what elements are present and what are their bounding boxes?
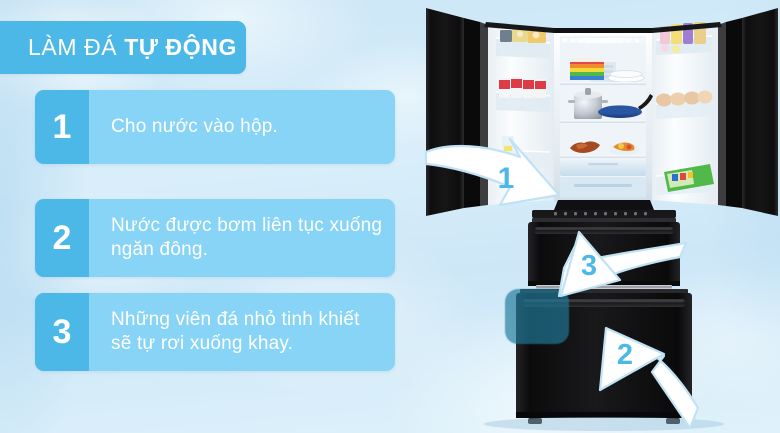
callout-2-label: 2 <box>617 339 633 371</box>
title-banner: LÀM ĐÁ TỰ ĐỘNG <box>0 21 246 74</box>
right-door <box>652 8 778 216</box>
step-3-text: Những viên đá nhỏ tinh khiết sẽ tự rơi x… <box>111 308 385 355</box>
step-2-text: Nước được bơm liên tục xuống ngăn đông. <box>111 214 385 261</box>
step-3-body: Những viên đá nhỏ tinh khiết sẽ tự rơi x… <box>89 293 395 371</box>
callout-3-label: 3 <box>581 250 597 282</box>
step-item-3: 3 Những viên đá nhỏ tinh khiết sẽ tự rơi… <box>35 293 395 371</box>
title-bold-part: TỰ ĐỘNG <box>124 34 237 60</box>
step-1-body: Cho nước vào hộp. <box>89 90 395 164</box>
page-title: LÀM ĐÁ TỰ ĐỘNG <box>28 34 237 61</box>
callout-arrow-2: 2 <box>598 316 748 433</box>
callout-arrow-1: 1 <box>424 133 564 225</box>
callout-1-label: 1 <box>498 162 515 195</box>
step-2-body: Nước được bơm liên tục xuống ngăn đông. <box>89 199 395 277</box>
step-3-number: 3 <box>35 293 89 371</box>
fridge-interior <box>554 30 653 202</box>
step-1-text: Cho nước vào hộp. <box>111 115 278 139</box>
step-item-1: 1 Cho nước vào hộp. <box>35 90 395 164</box>
promo-banner-image: 1 3 2 LÀM ĐÁ TỰ ĐỘNG 1 Cho nước vào hộp.… <box>0 0 780 433</box>
step-item-2: 2 Nước được bơm liên tục xuống ngăn đông… <box>35 199 395 277</box>
callout-arrow-3: 3 <box>558 228 698 314</box>
step-1-number: 1 <box>35 90 89 164</box>
title-light-part: LÀM ĐÁ <box>28 34 124 60</box>
step-2-number: 2 <box>35 199 89 277</box>
